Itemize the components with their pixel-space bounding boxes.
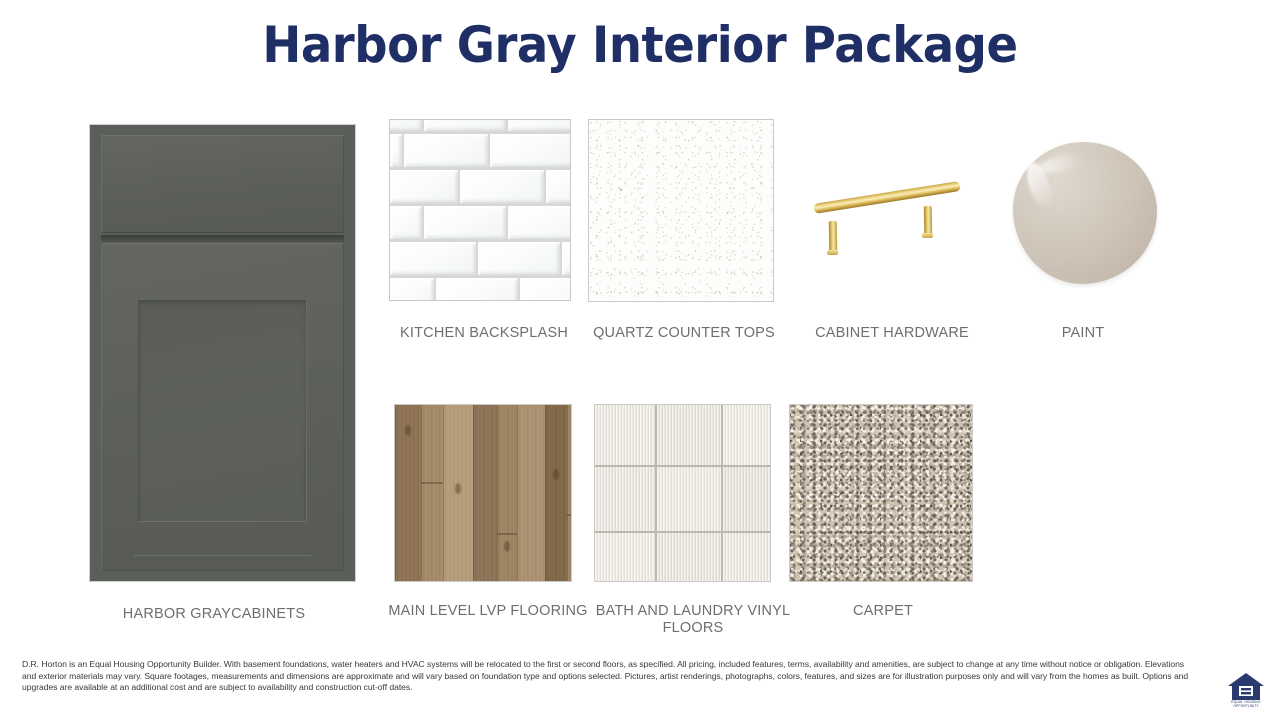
lvp-plank-edge bbox=[473, 405, 474, 581]
vinyl-grout-line-horizontal bbox=[595, 531, 770, 533]
lvp-plank-edge bbox=[567, 405, 568, 581]
carpet-fleck-layer-2 bbox=[790, 405, 972, 581]
cabinet-recessed-panel bbox=[138, 300, 307, 522]
subway-tile bbox=[390, 170, 458, 203]
bar-pull-base-right bbox=[922, 233, 933, 238]
bar-pull-post-left bbox=[829, 221, 838, 253]
paint-highlight-secondary bbox=[1036, 149, 1090, 177]
swatch-label-harbor-gray-cabinets: HARBOR GRAYCABINETS bbox=[123, 606, 305, 623]
lvp-plank-seam bbox=[497, 533, 517, 535]
subway-tile bbox=[508, 119, 571, 131]
cabinet-bottom-rail-line bbox=[134, 555, 311, 557]
subway-tile bbox=[436, 278, 518, 301]
swatch-label-quartz-counter-tops: QUARTZ COUNTER TOPS bbox=[593, 325, 775, 342]
subway-tile bbox=[546, 170, 571, 203]
equal-sign-bar-bottom bbox=[1241, 692, 1251, 694]
lvp-wood-knot bbox=[405, 425, 411, 436]
subway-tile bbox=[508, 206, 571, 239]
lvp-plank-edge bbox=[395, 405, 396, 581]
lvp-wood-knot bbox=[504, 541, 510, 552]
lvp-plank-edge bbox=[443, 405, 444, 581]
equal-housing-opportunity-caption: EQUAL HOUSING OPPORTUNITY bbox=[1216, 700, 1276, 708]
lvp-plank-grain bbox=[517, 405, 545, 581]
swatch-label-paint: PAINT bbox=[1062, 325, 1105, 342]
cabinet-reveal-gap bbox=[101, 235, 344, 243]
lvp-plank bbox=[517, 405, 545, 581]
equal-sign-bar-top bbox=[1241, 688, 1251, 690]
subway-tile-image bbox=[389, 119, 571, 301]
swatch-carpet[interactable]: CARPET bbox=[0, 0, 184, 178]
lvp-plank-edge bbox=[497, 405, 498, 581]
lvp-plank-edge bbox=[545, 405, 546, 581]
subway-tile bbox=[390, 242, 476, 275]
vinyl-tile bbox=[657, 404, 721, 465]
vinyl-grout-line-vertical bbox=[655, 405, 657, 581]
lvp-plank bbox=[497, 405, 517, 581]
legal-disclaimer: D.R. Horton is an Equal Housing Opportun… bbox=[22, 659, 1197, 694]
lvp-plank bbox=[421, 405, 443, 581]
cabinet-door-image bbox=[89, 124, 356, 582]
swatch-label-kitchen-backsplash: KITCHEN BACKSPLASH bbox=[400, 325, 568, 342]
subway-tile bbox=[389, 119, 422, 131]
lvp-plank-grain bbox=[473, 405, 497, 581]
vinyl-tile-image bbox=[594, 404, 771, 582]
vinyl-tile bbox=[723, 467, 770, 531]
lvp-wood-knot bbox=[553, 469, 559, 480]
lvp-plank-seam bbox=[421, 482, 443, 484]
cabinet-door-front bbox=[101, 243, 344, 571]
quartz-accent-speckle-layer bbox=[589, 120, 773, 301]
subway-tile bbox=[404, 134, 488, 167]
subway-tile bbox=[390, 134, 402, 167]
vinyl-tile bbox=[657, 467, 721, 531]
interior-package-board: Harbor Gray Interior Package HARBOR GRAY… bbox=[0, 0, 1280, 720]
lvp-plank-edge bbox=[421, 405, 422, 581]
subway-tile bbox=[460, 170, 544, 203]
paint-blob-shape bbox=[1013, 142, 1157, 284]
swatch-label-cabinet-hardware: CABINET HARDWARE bbox=[815, 325, 969, 342]
subway-tile bbox=[520, 278, 571, 301]
vinyl-tile bbox=[657, 533, 721, 581]
lvp-plank-grain bbox=[421, 405, 443, 581]
house-inner-panel bbox=[1239, 686, 1253, 696]
subway-tile bbox=[424, 206, 506, 239]
eho-caption-line-2: OPPORTUNITY bbox=[1216, 704, 1276, 708]
subway-tile bbox=[390, 206, 422, 239]
vinyl-grout-line-vertical bbox=[721, 405, 723, 581]
paint-blob-image bbox=[1011, 138, 1159, 288]
vinyl-tile bbox=[723, 533, 770, 581]
swatch-label-main-level-lvp-flooring: MAIN LEVEL LVP FLOORING bbox=[388, 603, 587, 620]
bar-pull-post-right bbox=[924, 206, 933, 236]
lvp-flooring-image bbox=[394, 404, 572, 582]
lvp-wood-knot bbox=[455, 483, 461, 494]
bar-pull-base-left bbox=[827, 250, 838, 255]
bar-pull-rod bbox=[813, 181, 961, 214]
subway-tile bbox=[490, 134, 571, 167]
subway-tile bbox=[562, 242, 571, 275]
lvp-plank bbox=[473, 405, 497, 581]
vinyl-tile bbox=[723, 404, 770, 465]
bar-pull-image bbox=[806, 140, 980, 280]
vinyl-tile bbox=[595, 533, 655, 581]
vinyl-tile bbox=[595, 404, 655, 465]
subway-tile bbox=[424, 119, 506, 131]
subway-tile bbox=[478, 242, 560, 275]
vinyl-grout-line-horizontal bbox=[595, 465, 770, 467]
lvp-plank bbox=[545, 405, 567, 581]
carpet-image bbox=[789, 404, 973, 582]
swatch-label-carpet: CARPET bbox=[853, 603, 913, 620]
subway-tile bbox=[390, 278, 434, 301]
lvp-plank-grain bbox=[497, 405, 517, 581]
lvp-plank-edge bbox=[517, 405, 518, 581]
vinyl-tile bbox=[595, 467, 655, 531]
quartz-image bbox=[588, 119, 774, 302]
lvp-plank-grain bbox=[545, 405, 567, 581]
swatch-label-bath-and-laundry-vinyl-floors: BATH AND LAUNDRY VINYL FLOORS bbox=[583, 603, 803, 637]
lvp-plank bbox=[395, 405, 421, 581]
lvp-plank bbox=[443, 405, 473, 581]
